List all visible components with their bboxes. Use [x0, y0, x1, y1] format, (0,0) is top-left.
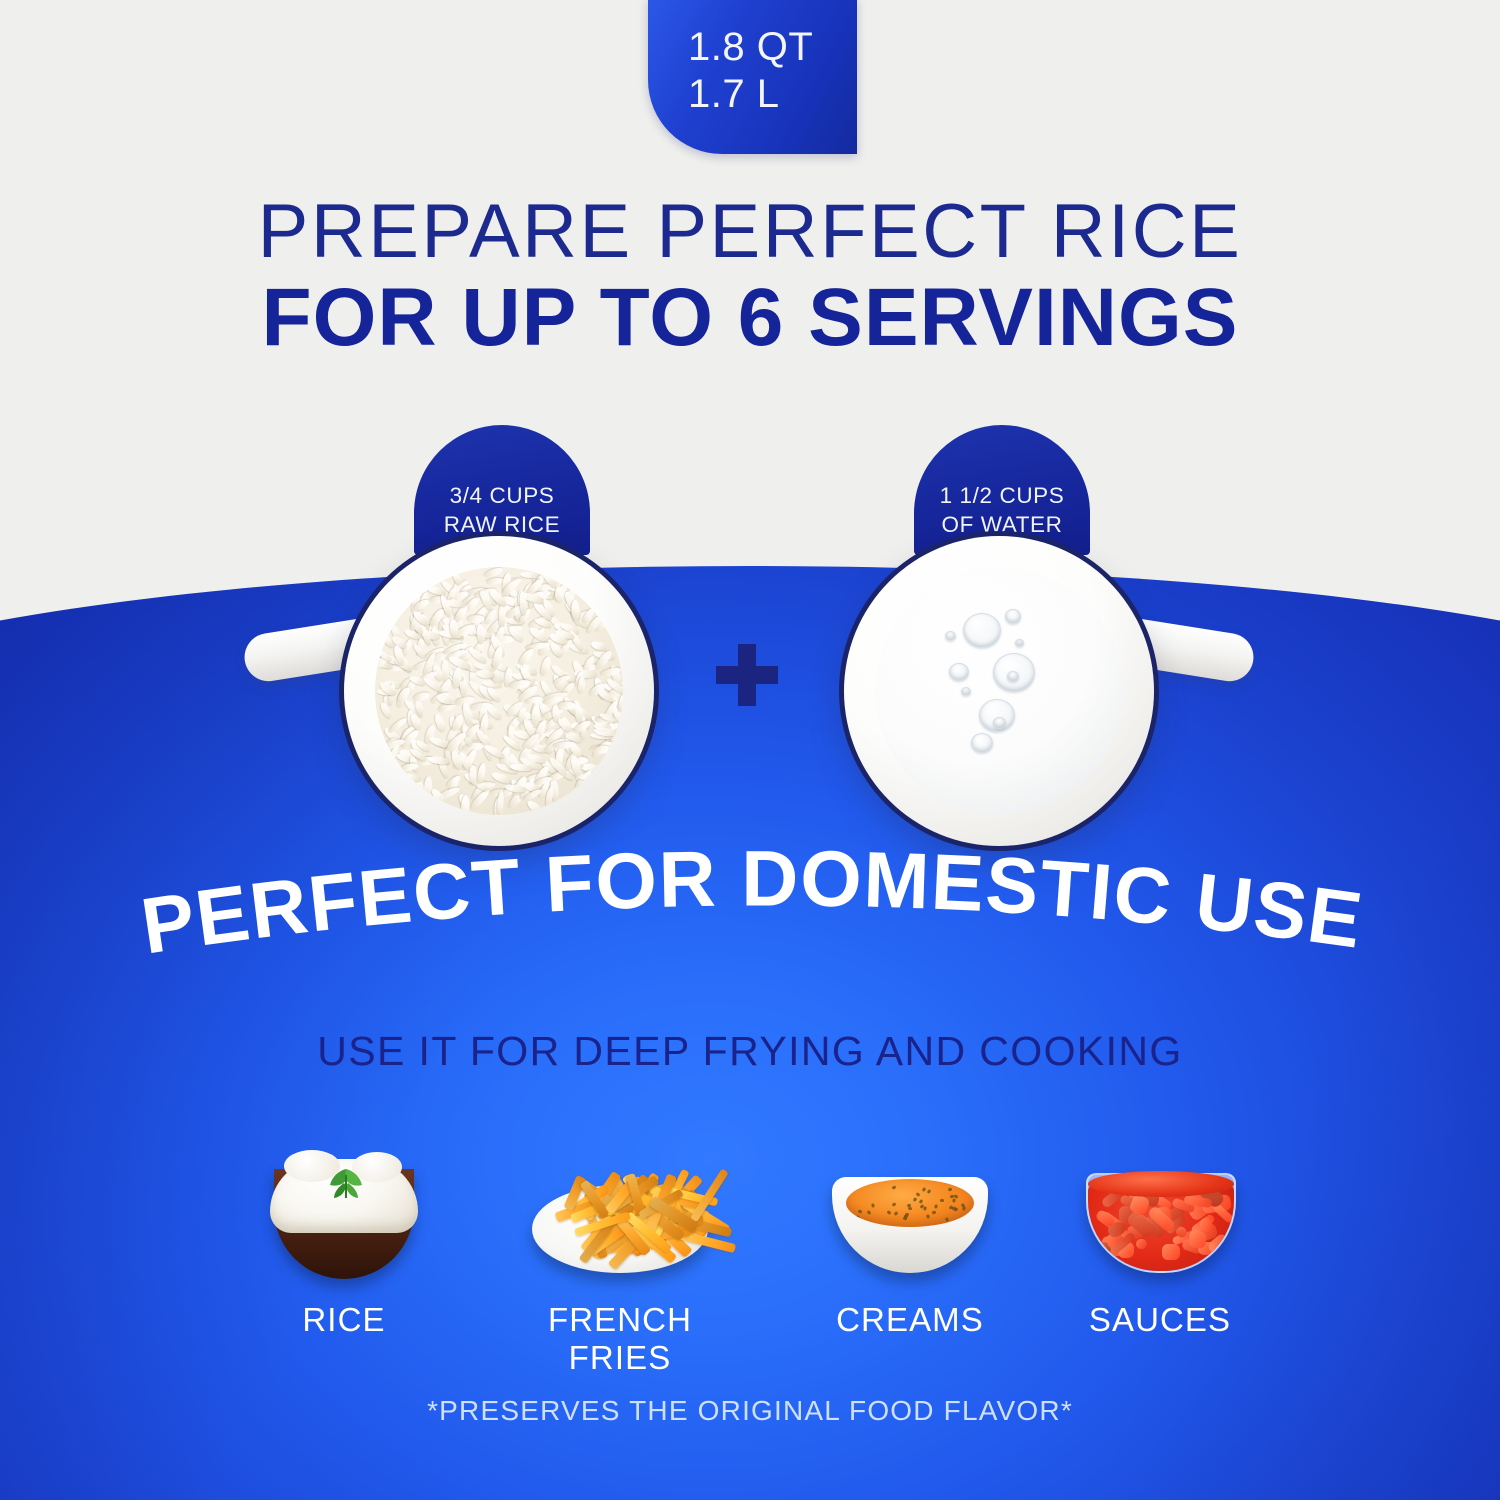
food-label-creams: CREAMS — [810, 1301, 1010, 1339]
food-item-french-fries: FRENCH FRIES — [520, 1133, 720, 1377]
headline-line-1: PREPARE PERFECT RICE — [0, 193, 1500, 271]
pot-interior-water — [875, 567, 1123, 815]
pot-interior-rice — [375, 567, 623, 815]
food-label-french-fries: FRENCH FRIES — [520, 1301, 720, 1377]
raw-rice-grains-icon — [375, 567, 623, 815]
food-item-rice: RICE — [244, 1133, 444, 1339]
infographic-canvas: 1.8 QT 1.7 L PREPARE PERFECT RICE FOR UP… — [0, 0, 1500, 1500]
domestic-use-curved-text: PERFECT FOR DOMESTIC USE — [136, 840, 1369, 971]
sauce-bowl-icon — [1060, 1133, 1260, 1293]
water-measure-line-2: OF WATER — [941, 510, 1062, 539]
rice-pot-image — [344, 536, 654, 846]
capacity-qt: 1.8 QT — [688, 24, 857, 71]
headline-line-2: FOR UP TO 6 SERVINGS — [0, 275, 1500, 361]
footer-note: *PRESERVES THE ORIGINAL FOOD FLAVOR* — [0, 1395, 1500, 1427]
rice-bowl-icon — [244, 1133, 444, 1293]
french-fries-icon — [520, 1133, 720, 1293]
use-it-subline: USE IT FOR DEEP FRYING AND COOKING — [0, 1028, 1500, 1075]
food-item-creams: CREAMS — [810, 1133, 1010, 1339]
rice-measure-line-2: RAW RICE — [444, 510, 560, 539]
rice-measure-line-1: 3/4 CUPS — [450, 481, 555, 510]
plus-icon — [716, 644, 778, 706]
parsley-leaf-icon — [316, 1165, 376, 1199]
food-item-sauces: SAUCES — [1060, 1133, 1260, 1339]
pot-body-water — [844, 536, 1154, 846]
food-label-rice: RICE — [244, 1301, 444, 1339]
water-pot-image — [844, 536, 1154, 846]
food-types-row: RICE FRENCH FRIES CREAMS SAUCES — [220, 1133, 1290, 1348]
main-headline: PREPARE PERFECT RICE FOR UP TO 6 SERVING… — [0, 193, 1500, 361]
capacity-badge: 1.8 QT 1.7 L — [648, 0, 857, 154]
pot-body-rice — [344, 536, 654, 846]
capacity-liters: 1.7 L — [688, 71, 857, 118]
food-label-sauces: SAUCES — [1060, 1301, 1260, 1339]
domestic-use-heading: PERFECT FOR DOMESTIC USE — [0, 840, 1500, 990]
water-droplets-icon — [875, 567, 1123, 815]
cream-bowl-icon — [810, 1133, 1010, 1293]
water-measure-line-1: 1 1/2 CUPS — [940, 481, 1065, 510]
